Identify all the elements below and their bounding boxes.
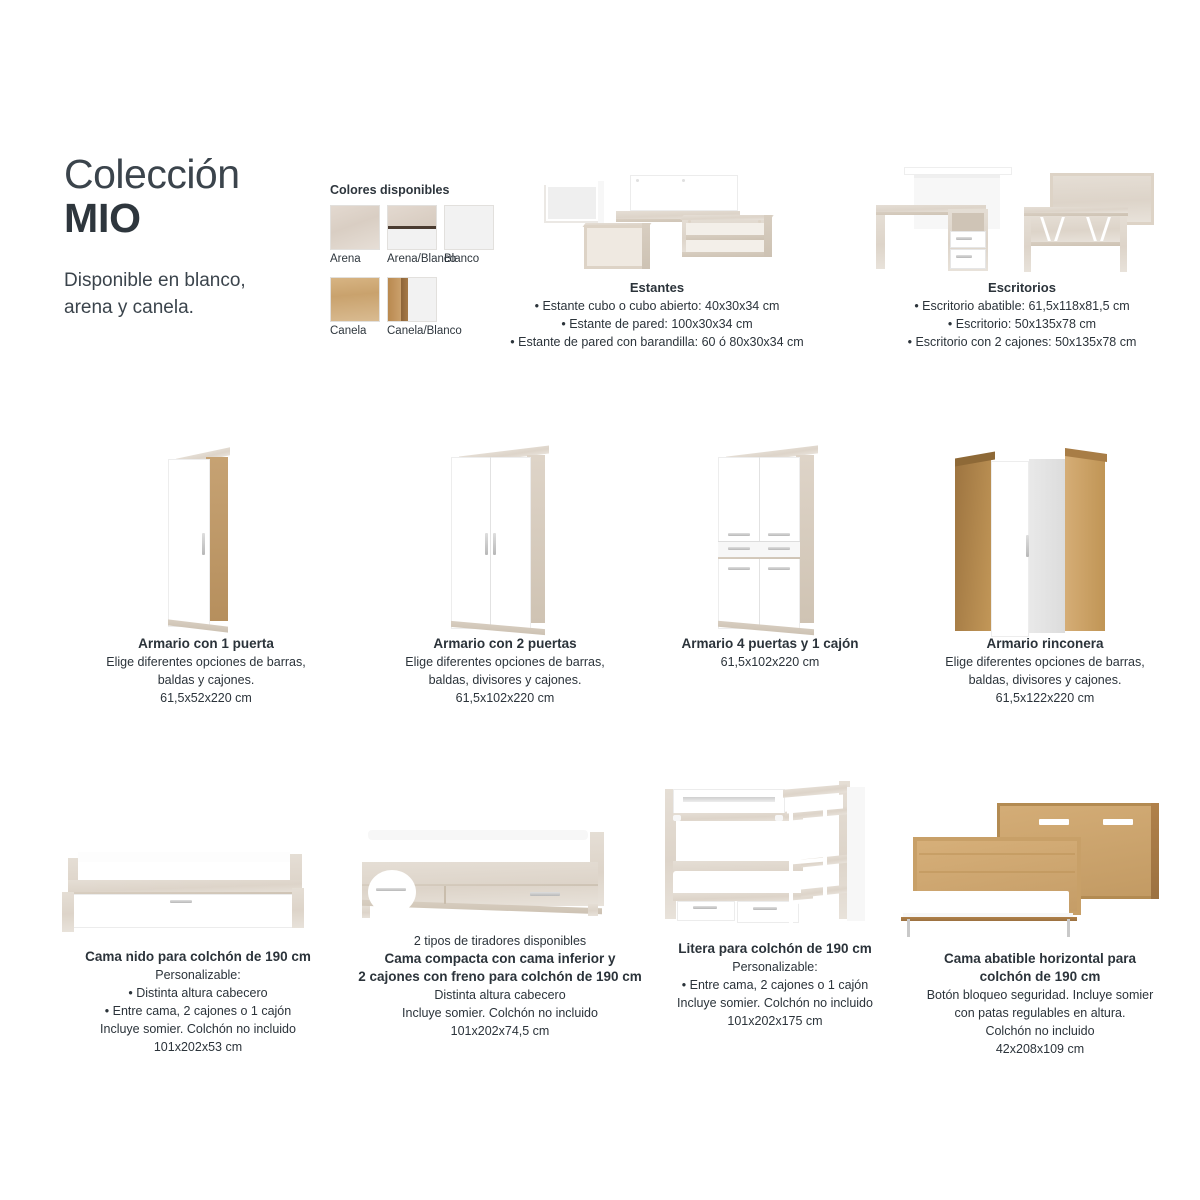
escritorios-title: Escritorios [862,280,1182,295]
cama-abatible-title-line-2: colchón de 190 cm [885,968,1195,986]
armario-1-puerta-line-3: 61,5x52x220 cm [56,689,356,707]
swatch-row-2: Canela Canela/Blanco [330,277,505,337]
swatch-item-arena[interactable]: Arena [330,205,380,265]
cama-nido-line-5: 101x202x53 cm [48,1038,348,1056]
swatch-label-canela-blanco: Canela/Blanco [387,325,437,337]
colors-title: Colores disponibles [330,183,505,197]
armario-2-puertas-line-3: 61,5x102x220 cm [355,689,655,707]
product-armario-1-puerta: Armario con 1 puerta Elige diferentes op… [56,445,356,707]
product-armario-rinconera: Armario rinconera Elige diferentes opcio… [895,445,1195,707]
catalog-page: Colección MIO Disponible en blanco, aren… [0,0,1200,1200]
armario-4-puertas-title: Armario 4 puertas y 1 cajón [620,635,920,653]
swatch-item-canela[interactable]: Canela [330,277,380,337]
product-armario-4-puertas: Armario 4 puertas y 1 cajón 61,5x102x220… [620,445,920,671]
swatch-canela [330,277,380,322]
armario-2-puertas-line-2: baldas, divisores y cajones. [355,671,655,689]
swatch-label-canela: Canela [330,325,380,337]
group-estantes: Estantes • Estante cubo o cubo abierto: … [492,165,822,351]
armario-1-puerta-illustration [56,445,356,635]
armario-1-puerta-line-1: Elige diferentes opciones de barras, [56,653,356,671]
swatch-label-arena-blanco: Arena/Blanco [387,253,437,265]
litera-line-1: Personalizable: [625,958,925,976]
armario-rinconera-illustration [895,445,1195,635]
cama-nido-line-1: Personalizable: [48,966,348,984]
cama-nido-line-2: • Distinta altura cabecero [48,984,348,1002]
collection-name: MIO [64,196,324,242]
swatch-item-canela-blanco[interactable]: Canela/Blanco [387,277,437,337]
swatch-canela-blanco [387,277,437,322]
armario-2-puertas-title: Armario con 2 puertas [355,635,655,653]
armario-4-puertas-line-1: 61,5x102x220 cm [620,653,920,671]
page-title: Colección [64,152,324,196]
cama-compacta-title-line-1: Cama compacta con cama inferior y [340,950,660,968]
cama-abatible-line-2: con patas regulables en altura. [885,1004,1195,1022]
hero-block: Colección MIO Disponible en blanco, aren… [64,152,324,322]
cama-compacta-line-1: Distinta altura cabecero [340,986,660,1004]
estantes-illustration [492,165,822,280]
colors-block: Colores disponibles Arena Arena/Blanco B… [330,183,505,339]
cama-nido-title: Cama nido para colchón de 190 cm [48,948,348,966]
escritorios-bullet-2: • Escritorio: 50x135x78 cm [862,315,1182,333]
estantes-bullet-3: • Estante de pared con barandilla: 60 ó … [492,333,822,351]
escritorios-bullet-1: • Escritorio abatible: 61,5x118x81,5 cm [862,297,1182,315]
swatch-row-1: Arena Arena/Blanco Blanco [330,205,505,265]
litera-line-2: • Entre cama, 2 cajones o 1 cajón [625,976,925,994]
estantes-title: Estantes [492,280,822,295]
swatch-label-blanco: Blanco [444,253,494,265]
cama-abatible-title-line-1: Cama abatible horizontal para [885,950,1195,968]
cama-compacta-line-3: 101x202x74,5 cm [340,1022,660,1040]
swatch-blanco [444,205,494,250]
cama-abatible-line-1: Botón bloqueo seguridad. Incluye somier [885,986,1195,1004]
cama-compacta-pretitle: 2 tipos de tiradores disponibles [340,932,660,950]
litera-illustration [625,775,925,940]
cama-abatible-line-3: Colchón no incluido [885,1022,1195,1040]
armario-rinconera-line-1: Elige diferentes opciones de barras, [895,653,1195,671]
cama-nido-line-3: • Entre cama, 2 cajones o 1 cajón [48,1002,348,1020]
armario-2-puertas-illustration [355,445,655,635]
product-armario-2-puertas: Armario con 2 puertas Elige diferentes o… [355,445,655,707]
swatch-item-arena-blanco[interactable]: Arena/Blanco [387,205,437,265]
product-cama-nido: Cama nido para colchón de 190 cm Persona… [48,830,348,1056]
armario-rinconera-title: Armario rinconera [895,635,1195,653]
escritorios-illustration [862,165,1182,280]
swatch-arena [330,205,380,250]
cama-nido-illustration [48,830,348,948]
cama-compacta-illustration [340,822,660,932]
armario-rinconera-line-3: 61,5x122x220 cm [895,689,1195,707]
armario-1-puerta-title: Armario con 1 puerta [56,635,356,653]
hero-subtitle: Disponible en blanco, arena y canela. [64,268,324,322]
cama-compacta-title-line-2: 2 cajones con freno para colchón de 190 … [340,968,660,986]
swatch-label-arena: Arena [330,253,380,265]
swatch-item-blanco[interactable]: Blanco [444,205,494,265]
product-cama-compacta: 2 tipos de tiradores disponibles Cama co… [340,822,660,1040]
armario-2-puertas-line-1: Elige diferentes opciones de barras, [355,653,655,671]
armario-1-puerta-line-2: baldas y cajones. [56,671,356,689]
estantes-bullet-1: • Estante cubo o cubo abierto: 40x30x34 … [492,297,822,315]
armario-4-puertas-illustration [620,445,920,635]
cama-abatible-illustration [885,795,1195,950]
product-litera: Litera para colchón de 190 cm Personaliz… [625,775,925,1030]
group-escritorios: Escritorios • Escritorio abatible: 61,5x… [862,165,1182,351]
estantes-bullet-2: • Estante de pared: 100x30x34 cm [492,315,822,333]
product-cama-abatible: Cama abatible horizontal para colchón de… [885,795,1195,1058]
litera-title: Litera para colchón de 190 cm [625,940,925,958]
escritorios-bullet-3: • Escritorio con 2 cajones: 50x135x78 cm [862,333,1182,351]
litera-line-4: 101x202x175 cm [625,1012,925,1030]
swatch-arena-blanco [387,205,437,250]
cama-compacta-line-2: Incluye somier. Colchón no incluido [340,1004,660,1022]
armario-rinconera-line-2: baldas, divisores y cajones. [895,671,1195,689]
cama-nido-line-4: Incluye somier. Colchón no incluido [48,1020,348,1038]
cama-abatible-line-4: 42x208x109 cm [885,1040,1195,1058]
litera-line-3: Incluye somier. Colchón no incluido [625,994,925,1012]
